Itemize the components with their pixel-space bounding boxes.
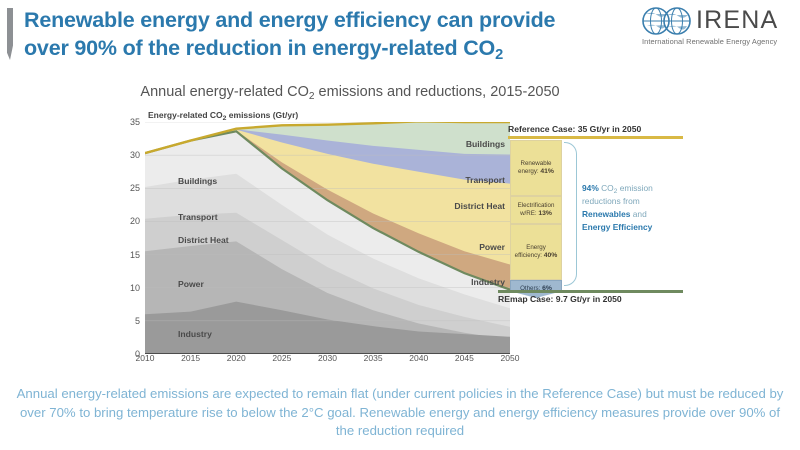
- y-tick-label: 5: [120, 316, 140, 326]
- sector-label-right: Industry: [471, 277, 505, 287]
- sector-label-left: Transport: [178, 212, 218, 222]
- chart-container: Annual energy-related CO2 emissions and …: [0, 78, 800, 368]
- y-tick-label: 25: [120, 183, 140, 193]
- reference-case-rule: [508, 136, 683, 139]
- remap-case-rule: [498, 290, 683, 293]
- x-tick-label: 2045: [455, 353, 474, 363]
- x-axis-ticks: 201020152020202520302035204020452050: [145, 353, 510, 367]
- legend-segment-electrification: Electrification w/RE: 13%: [510, 196, 562, 224]
- y-tick-label: 10: [120, 283, 140, 293]
- x-tick-label: 2035: [364, 353, 383, 363]
- logo-wordmark: IRENA: [696, 6, 778, 35]
- reduction-share-stack: Renewable energy: 41%Electrification w/R…: [510, 140, 562, 298]
- x-tick-label: 2015: [181, 353, 200, 363]
- page-title: Renewable energy and energy efficiency c…: [24, 6, 624, 63]
- irena-logo: IRENA International Renewable Energy Age…: [640, 6, 792, 52]
- x-tick-label: 2030: [318, 353, 337, 363]
- callout-energy-efficiency: Energy Efficiency: [582, 222, 652, 232]
- y-tick-label: 15: [120, 250, 140, 260]
- slide-header: Renewable energy and energy efficiency c…: [0, 0, 800, 72]
- sector-label-left: District Heat: [178, 235, 229, 245]
- co2-subscript: 2: [495, 47, 503, 63]
- reduction-callout: 94% CO2 emission reductions from Renewab…: [582, 182, 694, 234]
- page-title-line2: over 90% of the reduction in energy-rela…: [24, 36, 495, 60]
- chart-title: Annual energy-related CO2 emissions and …: [0, 84, 700, 100]
- legend-segment-text: Electrification w/RE: 13%: [512, 202, 560, 217]
- reference-case-label: Reference Case: 35 Gt/yr in 2050: [508, 124, 641, 134]
- legend-segment-energy-efficiency: Energy efficiency: 40%: [510, 224, 562, 280]
- callout-percent: 94%: [582, 183, 599, 193]
- sector-label-left: Power: [178, 279, 204, 289]
- x-tick-label: 2050: [501, 353, 520, 363]
- sector-label-right: Buildings: [466, 139, 505, 149]
- caption-line1: Annual energy-related emissions are expe…: [17, 386, 642, 401]
- y-tick-label: 20: [120, 216, 140, 226]
- sector-label-left: Buildings: [178, 176, 217, 186]
- sector-label-left: Industry: [178, 329, 212, 339]
- legend-segment-text: Energy efficiency: 40%: [512, 244, 560, 259]
- slide-caption: Annual energy-related emissions are expe…: [14, 385, 786, 441]
- y-tick-label: 35: [120, 117, 140, 127]
- x-tick-label: 2025: [272, 353, 291, 363]
- brace-bracket: [564, 142, 577, 286]
- logo-tagline: International Renewable Energy Agency: [642, 37, 777, 46]
- y-axis-label: Energy-related CO2 emissions (Gt/yr): [148, 110, 298, 120]
- callout-renewables: Renewables: [582, 209, 630, 219]
- sector-label-right: District Heat: [454, 201, 505, 211]
- title-accent-bar: [7, 8, 13, 60]
- legend-segment-text: Renewable energy: 41%: [512, 160, 560, 175]
- y-tick-label: 30: [120, 150, 140, 160]
- remap-case-label: REmap Case: 9.7 Gt/yr in 2050: [498, 294, 622, 304]
- sector-label-right: Power: [479, 242, 505, 252]
- x-tick-label: 2020: [227, 353, 246, 363]
- page-title-line1: Renewable energy and energy efficiency c…: [24, 8, 555, 32]
- x-tick-label: 2040: [409, 353, 428, 363]
- legend-segment-renewable-energy: Renewable energy: 41%: [510, 140, 562, 196]
- sector-label-right: Transport: [465, 175, 505, 185]
- y-tick-label: 0: [120, 349, 140, 359]
- globe-icon: [640, 6, 694, 36]
